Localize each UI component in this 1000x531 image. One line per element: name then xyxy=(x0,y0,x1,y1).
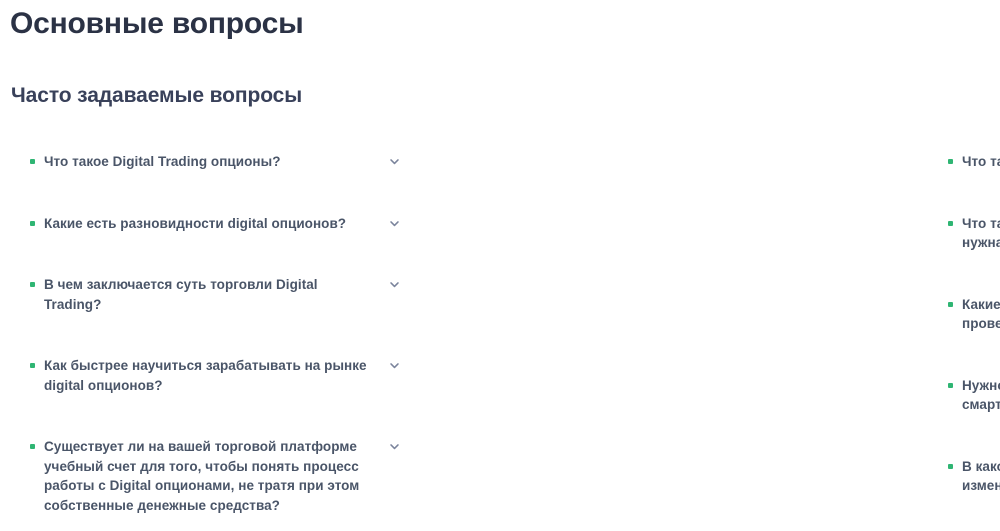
faq-column-right: Что такое период экспирации сделки? Что … xyxy=(460,152,1000,496)
faq-question-label: Какие есть разновидности digital опционо… xyxy=(44,214,388,234)
faq-item[interactable]: В чем заключается суть торговли Digital … xyxy=(30,275,405,314)
faq-page: Основные вопросы Часто задаваемые вопрос… xyxy=(0,0,1000,531)
faq-item[interactable]: Что такое торговая платформа и для чего … xyxy=(948,214,1000,253)
chevron-down-icon[interactable] xyxy=(389,156,400,167)
faq-item[interactable]: Существует ли на вашей торговой платформ… xyxy=(30,437,405,515)
bullet-square-icon xyxy=(30,159,35,164)
bullet-square-icon xyxy=(948,464,953,469)
faq-question-label: Что такое торговая платформа и для чего … xyxy=(962,214,1000,253)
faq-question-label: Существует ли на вашей торговой платформ… xyxy=(44,437,388,515)
faq-item[interactable]: Какие есть разновидности digital опционо… xyxy=(30,214,405,234)
bullet-square-icon xyxy=(30,282,35,287)
section-title: Часто задаваемые вопросы xyxy=(11,82,302,110)
bullet-square-icon xyxy=(948,159,953,164)
faq-item[interactable]: Что такое период экспирации сделки? xyxy=(948,152,1000,172)
bullet-square-icon xyxy=(948,383,953,388)
faq-question-label: Как быстрее научиться зарабатывать на ры… xyxy=(44,356,388,395)
faq-question-label: В какой валюте открывается счет? Можно л… xyxy=(962,457,1000,496)
faq-item[interactable]: Как быстрее научиться зарабатывать на ры… xyxy=(30,356,405,395)
faq-item[interactable]: Какие существуют варианты результата про… xyxy=(948,295,1000,334)
faq-question-label: Что такое Digital Trading опционы? xyxy=(44,152,388,172)
faq-item[interactable]: Нужно ли загружать программу на компьюте… xyxy=(948,376,1000,415)
bullet-square-icon xyxy=(30,363,35,368)
bullet-square-icon xyxy=(30,444,35,449)
page-title: Основные вопросы xyxy=(10,5,304,43)
chevron-down-icon[interactable] xyxy=(389,360,400,371)
chevron-down-icon[interactable] xyxy=(389,279,400,290)
bullet-square-icon xyxy=(948,302,953,307)
faq-item[interactable]: В какой валюте открывается счет? Можно л… xyxy=(948,457,1000,496)
bullet-square-icon xyxy=(30,221,35,226)
chevron-down-icon[interactable] xyxy=(389,441,400,452)
faq-question-label: Что такое период экспирации сделки? xyxy=(962,152,1000,172)
faq-columns: Что такое Digital Trading опционы? Какие… xyxy=(0,152,1000,515)
faq-column-left: Что такое Digital Trading опционы? Какие… xyxy=(0,152,460,515)
chevron-down-icon[interactable] xyxy=(389,218,400,229)
faq-question-label: В чем заключается суть торговли Digital … xyxy=(44,275,388,314)
faq-question-label: Какие существуют варианты результата про… xyxy=(962,295,1000,334)
bullet-square-icon xyxy=(948,221,953,226)
faq-question-label: Нужно ли загружать программу на компьюте… xyxy=(962,376,1000,415)
faq-item[interactable]: Что такое Digital Trading опционы? xyxy=(30,152,405,172)
